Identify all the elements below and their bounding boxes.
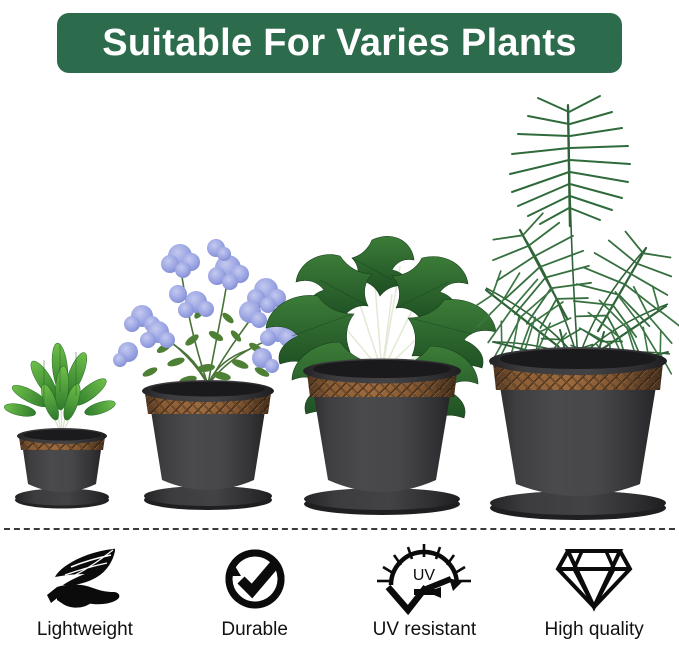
hand-feather-icon bbox=[35, 540, 135, 618]
feature-label-uv-resistant: UV resistant bbox=[373, 620, 476, 641]
pot-group-3 bbox=[266, 236, 496, 515]
feature-label-durable: Durable bbox=[221, 620, 288, 641]
uv-sun-arrow-icon: UV bbox=[369, 540, 479, 618]
pot-group-2 bbox=[113, 239, 297, 510]
headline-banner: Suitable For Varies Plants bbox=[57, 13, 622, 73]
flower-clusters bbox=[113, 239, 297, 373]
section-divider bbox=[4, 528, 675, 530]
pot-group-1 bbox=[3, 342, 117, 508]
check-circle-arrow-icon bbox=[215, 540, 295, 618]
feature-lightweight: Lightweight bbox=[0, 540, 170, 655]
pot-group-4 bbox=[460, 96, 679, 520]
feature-row: Lightweight Durable bbox=[0, 540, 679, 655]
feature-label-high-quality: High quality bbox=[544, 620, 643, 641]
uv-icon-text: UV bbox=[413, 567, 436, 584]
product-infographic: Suitable For Varies Plants bbox=[0, 0, 679, 655]
headline-text: Suitable For Varies Plants bbox=[102, 24, 577, 62]
feature-durable: Durable bbox=[170, 540, 340, 655]
feature-label-lightweight: Lightweight bbox=[37, 620, 133, 641]
feature-uv-resistant: UV UV resistant bbox=[340, 540, 510, 655]
feature-high-quality: High quality bbox=[509, 540, 679, 655]
plant-purple-flowers bbox=[113, 239, 297, 386]
plant-leafy-small bbox=[3, 342, 117, 435]
pots-scene-illustration bbox=[0, 80, 679, 520]
pots-scene bbox=[0, 80, 679, 520]
diamond-icon bbox=[552, 540, 636, 618]
